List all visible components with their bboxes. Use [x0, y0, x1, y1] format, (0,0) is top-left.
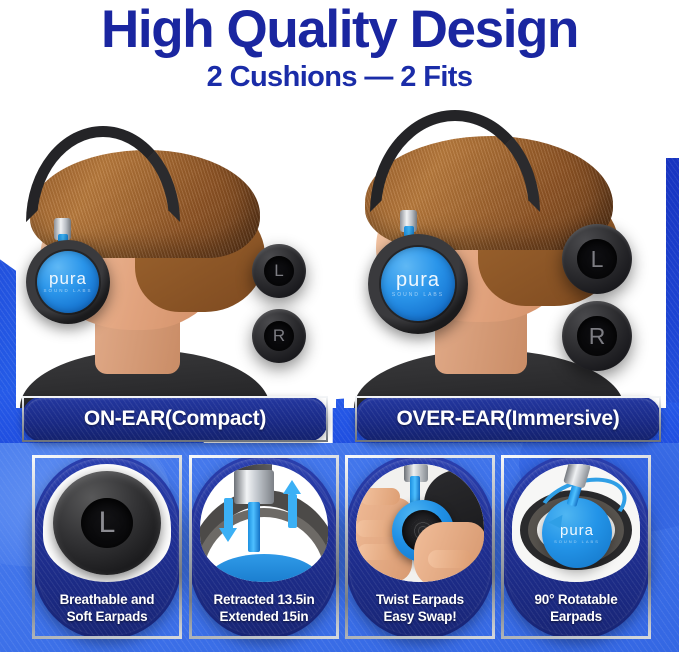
model-wearing-on-ear-headphones: pura SOUND LABS [20, 126, 270, 408]
fit-badge-over-ear: OVER-EAR(Immersive) [355, 396, 661, 442]
loose-earpad-left: L [562, 224, 632, 294]
headphone-headband [370, 110, 540, 212]
chrome-slider [234, 470, 274, 504]
feature-caption-line-2: Earpads [504, 608, 648, 625]
finger [358, 544, 400, 560]
feature-caption-line-1: Breathable and [35, 591, 179, 608]
feature-photo [356, 464, 484, 582]
loose-earpad-right: R [562, 301, 632, 371]
feature-card-adjustable-headband: Retracted 13.5in Extended 15in [189, 455, 339, 639]
earcup-brand-tagline: SOUND LABS [554, 540, 600, 544]
loose-earpad-right: R [252, 309, 306, 363]
rotating-earcup-icon: pura SOUND LABS [512, 464, 640, 582]
feature-caption-line-1: 90° Rotatable [504, 591, 648, 608]
feature-card-twist-earpads: Twist Earpads Easy Swap! [345, 455, 495, 639]
feature-caption: Twist Earpads Easy Swap! [348, 591, 492, 625]
feature-caption: Breathable and Soft Earpads [35, 591, 179, 625]
earcup-brand-tagline: SOUND LABS [392, 293, 444, 298]
on-ear-earcup: pura SOUND LABS [26, 240, 110, 324]
twist-earpad-hands-icon [356, 464, 484, 582]
feature-caption-line-2: Soft Earpads [35, 608, 179, 625]
feature-caption-line-2: Easy Swap! [348, 608, 492, 625]
feature-card-rotatable-earpads: pura SOUND LABS 90° Rotatable Earpads [501, 455, 651, 639]
feature-caption: Retracted 13.5in Extended 15in [192, 591, 336, 625]
finger [360, 488, 400, 505]
earpad-side-label: R [273, 326, 285, 346]
feature-caption-line-1: Retracted 13.5in [192, 591, 336, 608]
fit-badge-label: ON-EAR(Compact) [84, 407, 266, 431]
earcup-face: pura SOUND LABS [381, 247, 455, 321]
fit-badge-on-ear: ON-EAR(Compact) [22, 396, 328, 442]
feature-caption-line-1: Twist Earpads [348, 591, 492, 608]
headband-slider-icon [200, 464, 328, 582]
earpad-side-label: L [99, 506, 116, 540]
extension-stem [248, 502, 260, 552]
panel-over-ear: pura SOUND LABS L R [344, 104, 666, 408]
earcup-brand-label: pura [396, 270, 440, 290]
earcup-brand-label: pura [49, 270, 87, 287]
earpad-side-label: L [274, 261, 283, 281]
feature-photo: pura SOUND LABS [512, 464, 640, 582]
panel-on-ear: pura SOUND LABS L R [16, 104, 336, 408]
feature-photo [200, 464, 328, 582]
headline-section: High Quality Design 2 Cushions — 2 Fits [0, 0, 679, 104]
feature-card-breathable-earpads: L Breathable and Soft Earpads [32, 455, 182, 639]
comparison-photo-band: pura SOUND LABS L R [0, 100, 679, 445]
headphone-headband [26, 126, 180, 222]
feature-highlight-band: L Breathable and Soft Earpads [0, 443, 679, 652]
earcup-brand-tagline: SOUND LABS [43, 289, 92, 294]
earcup-face: pura SOUND LABS [37, 251, 99, 313]
feature-photo: L [43, 464, 171, 582]
fit-label-row: ON-EAR(Compact) OVER-EAR(Immersive) [0, 396, 679, 442]
loose-earpad-left: L [252, 244, 306, 298]
feature-caption: 90° Rotatable Earpads [504, 591, 648, 625]
feature-caption-line-2: Extended 15in [192, 608, 336, 625]
page-title: High Quality Design [0, 0, 679, 58]
earpad-side-label: L [591, 246, 604, 273]
over-ear-earcup: pura SOUND LABS [368, 234, 468, 334]
earpad-icon: L [53, 471, 161, 575]
fit-badge-label: OVER-EAR(Immersive) [396, 407, 619, 431]
finger [428, 550, 472, 568]
page-subtitle: 2 Cushions — 2 Fits [0, 60, 679, 94]
product-feature-graphic: High Quality Design 2 Cushions — 2 Fits [0, 0, 679, 652]
earpad-side-label: R [589, 323, 606, 350]
